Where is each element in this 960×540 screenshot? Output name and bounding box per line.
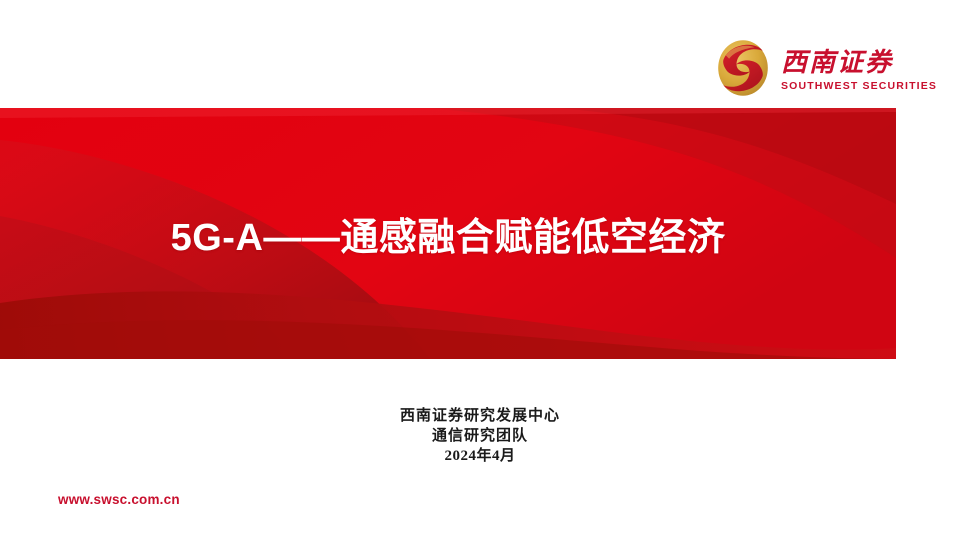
- author-date: 2024年4月: [0, 446, 960, 466]
- swsc-circular-swirl-logo-icon: [714, 38, 772, 98]
- author-block: 西南证券研究发展中心 通信研究团队 2024年4月: [0, 406, 960, 466]
- logo-text-block: 西南证券 SOUTHWEST SECURITIES: [781, 45, 937, 92]
- logo-chinese-name: 西南证券: [781, 48, 894, 77]
- logo-chinese-wordmark-icon: 西南证券: [781, 47, 903, 77]
- page-title: 5G-A——通感融合赋能低空经济: [0, 108, 896, 359]
- presentation-cover-slide: 西南证券 SOUTHWEST SECURITIES: [0, 0, 960, 540]
- company-logo: 西南证券 SOUTHWEST SECURITIES: [714, 36, 904, 100]
- website-url[interactable]: www.swsc.com.cn: [58, 492, 180, 507]
- title-banner: 5G-A——通感融合赋能低空经济: [0, 108, 896, 359]
- author-institution: 西南证券研究发展中心: [0, 406, 960, 426]
- author-team: 通信研究团队: [0, 426, 960, 446]
- logo-english-name: SOUTHWEST SECURITIES: [781, 81, 937, 92]
